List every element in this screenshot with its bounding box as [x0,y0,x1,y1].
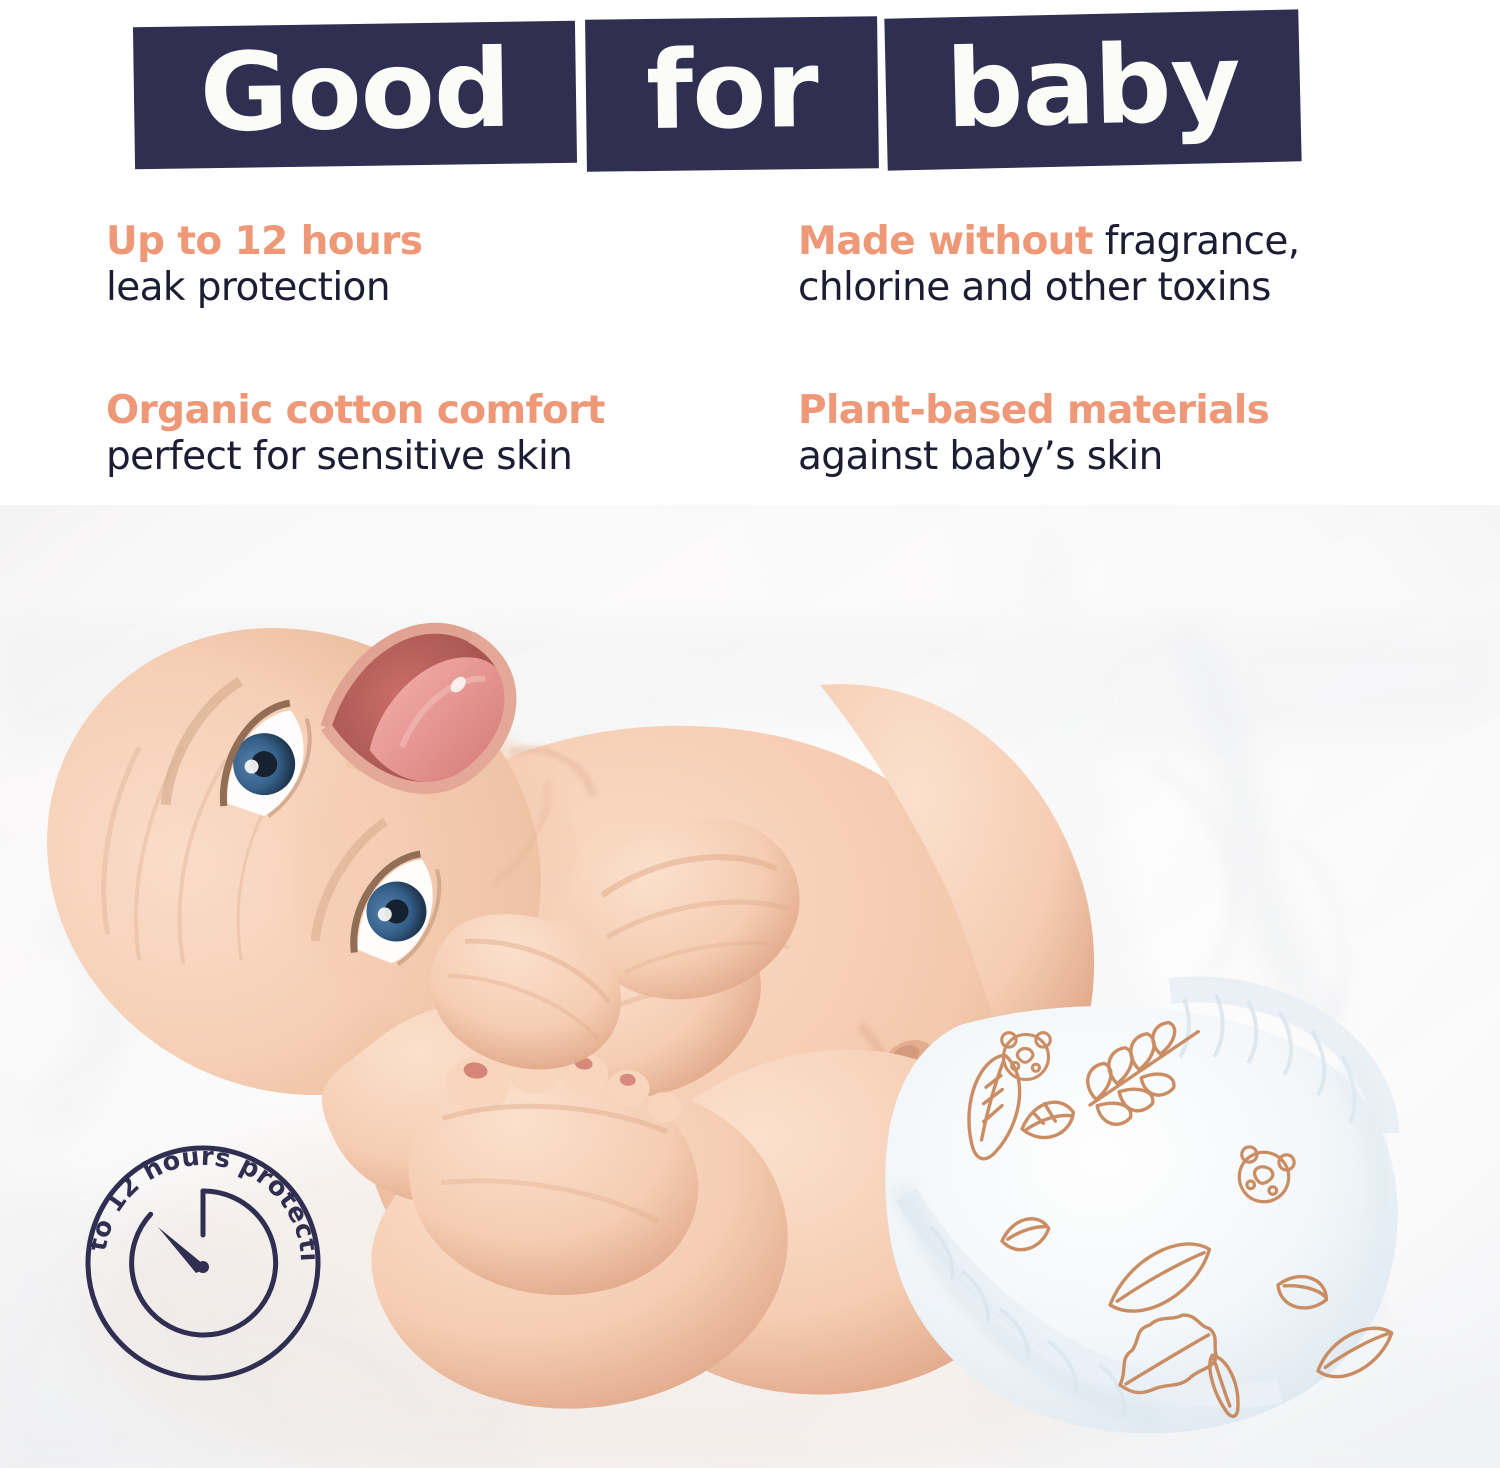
badge-svg: up to 12 hours protection [84,1144,322,1382]
headline: Good for baby [0,0,1500,195]
feature-headline: Up to 12 hours [106,219,686,265]
feature-item-organic-cotton: Organic cotton comfort perfect for sensi… [106,388,686,479]
feature-subtext: leak protection [106,265,686,311]
feature-list: Up to 12 hours leak protection Made with… [0,205,1500,505]
headline-word-good: Good [199,36,511,149]
gauge-hub [197,1261,209,1273]
feature-item-leak-protection: Up to 12 hours leak protection [106,219,686,310]
feature-headline: Made without fragrance, [798,219,1378,265]
feature-headline: Organic cotton comfort [106,388,686,434]
feature-item-made-without: Made without fragrance, chlorine and oth… [798,219,1378,310]
headline-word-baby: baby [945,30,1241,145]
feature-accent-text: Organic cotton comfort [106,388,605,433]
feature-accent-text: Plant-based materials [798,388,1269,433]
badge-12-hours-protection: up to 12 hours protection [84,1144,322,1382]
headline-block-baby: baby [884,9,1301,170]
feature-item-plant-based: Plant-based materials against baby’s ski… [798,388,1378,479]
feature-rest-text: fragrance, [1093,219,1300,264]
feature-headline: Plant-based materials [798,388,1378,434]
feature-subtext: against baby’s skin [798,434,1378,480]
headline-block-for: for [585,16,879,172]
feature-subtext: perfect for sensitive skin [106,434,686,480]
headline-block-good: Good [133,21,577,170]
feature-accent-text: Made without [798,219,1093,264]
feature-subtext: chlorine and other toxins [798,265,1378,311]
feature-accent-text: Up to 12 hours [106,219,422,264]
headline-word-for: for [646,36,819,146]
clock-gauge-icon [132,1191,276,1335]
